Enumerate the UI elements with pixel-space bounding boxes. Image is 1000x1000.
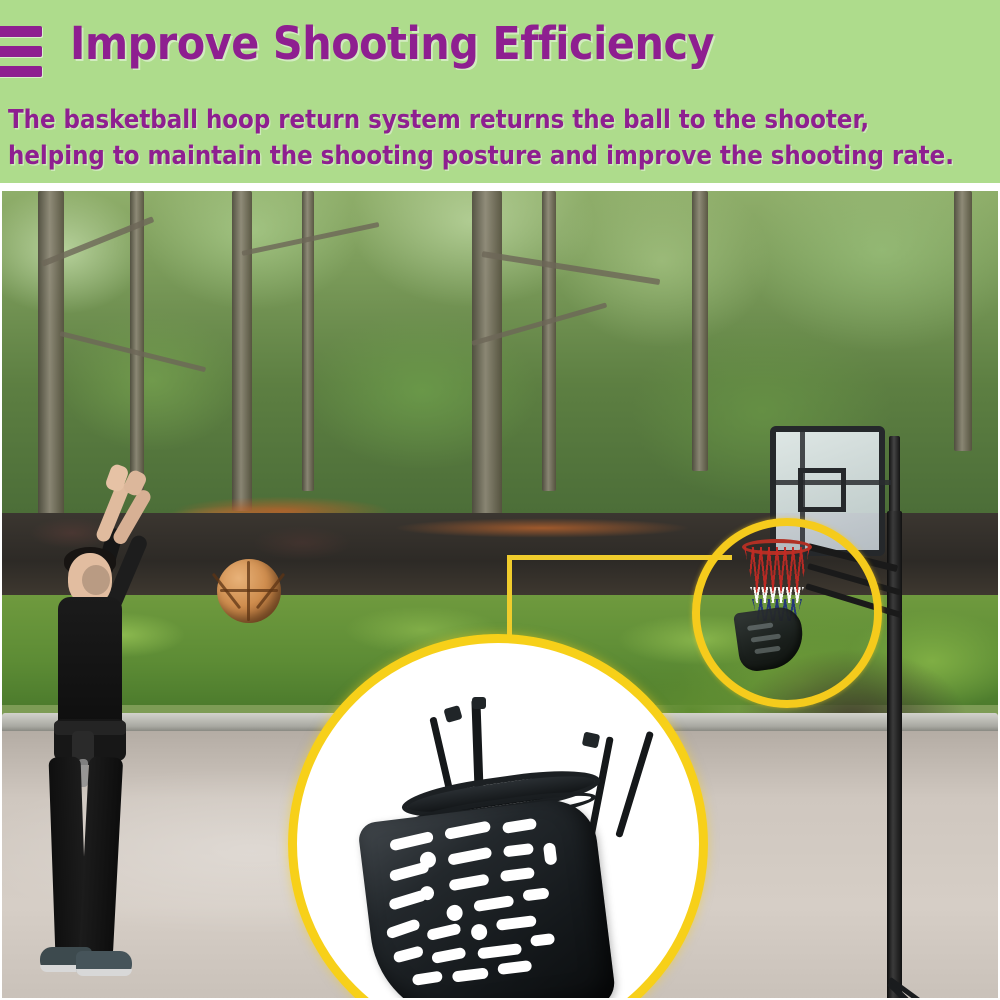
page-title: Improve Shooting Efficiency — [70, 17, 714, 70]
banner-divider — [0, 183, 1000, 191]
basketball — [217, 559, 281, 623]
person-torso — [58, 597, 122, 733]
tree-trunk — [542, 191, 556, 491]
person-face-shadow — [82, 565, 110, 595]
subtitle-line-1: The basketball hoop return system return… — [8, 102, 890, 138]
subtitle-line-2: helping to maintain the shooting posture… — [8, 138, 890, 174]
hoop-pole — [887, 511, 902, 998]
header-banner: Improve Shooting Efficiency The basketba… — [0, 0, 1000, 183]
shooter-person — [20, 469, 240, 998]
tree-trunk — [232, 191, 252, 511]
product-zoom-circle — [288, 634, 708, 998]
callout-connector-horizontal — [507, 555, 732, 560]
returner-chute — [357, 795, 617, 998]
tree-trunk — [130, 191, 144, 491]
returner-strap — [615, 731, 654, 838]
product-infographic: Improve Shooting Efficiency The basketba… — [0, 0, 1000, 1000]
returner-clip — [443, 705, 462, 723]
returner-clip — [472, 697, 486, 709]
hoop-zoom-circle — [692, 518, 882, 708]
backboard-shooting-square — [798, 468, 846, 512]
tree-trunk — [692, 191, 708, 471]
tree-trunk — [954, 191, 972, 451]
page-subtitle: The basketball hoop return system return… — [8, 102, 890, 174]
returner-clip — [582, 731, 601, 748]
product-photo: Portable ball returner — [2, 191, 998, 998]
person-shoe-sole — [76, 969, 132, 976]
flower-bed — [332, 513, 752, 543]
bulleted-list-icon — [0, 22, 46, 80]
ball-returner-product — [333, 681, 681, 998]
